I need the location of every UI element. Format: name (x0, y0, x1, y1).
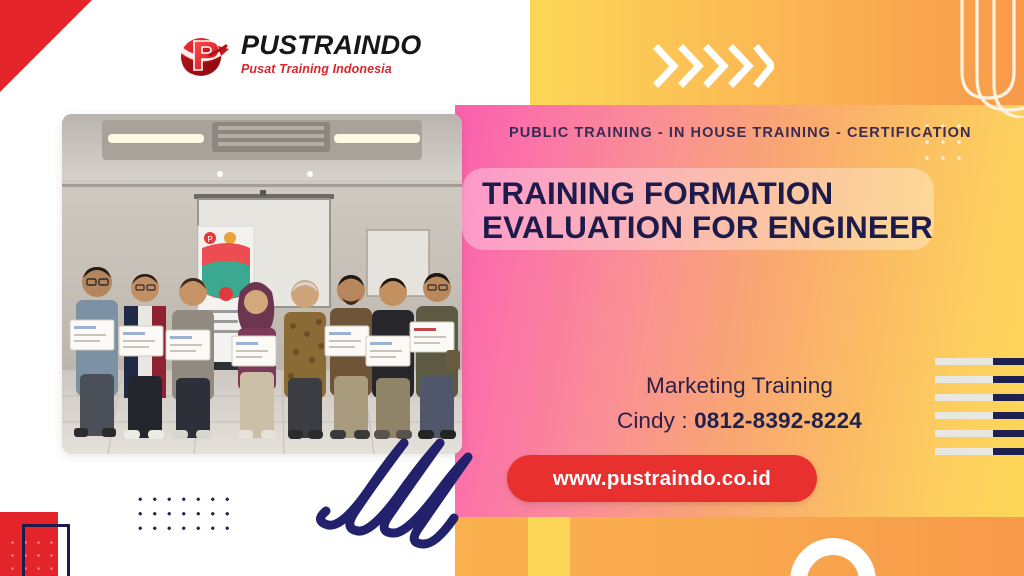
contact-role: Marketing Training (455, 373, 1024, 399)
title-line-1: TRAINING FORMATION (482, 176, 932, 210)
svg-text:P: P (207, 235, 212, 244)
contact-person-label: Cindy : (617, 408, 688, 433)
contact-phone: 0812-8392-8224 (694, 408, 862, 433)
brand-tagline: Pusat Training Indonesia (241, 63, 422, 76)
brand-logo: PUSTRAINDO Pusat Training Indonesia (174, 28, 422, 80)
rounded-arc-lines-icon (914, 0, 1024, 123)
eyebrow-text: PUBLIC TRAINING - IN HOUSE TRAINING - CE… (509, 125, 972, 141)
square-outline-icon (22, 524, 70, 576)
chevron-right-icon-group (652, 41, 774, 96)
website-cta-button[interactable]: www.pustraindo.co.id (507, 455, 817, 502)
zigzag-scribble-icon (300, 415, 510, 560)
contact-person: Cindy : 0812-8392-8224 (455, 408, 1024, 434)
promotional-banner: P (0, 0, 1024, 576)
brand-logo-text: PUSTRAINDO Pusat Training Indonesia (241, 32, 422, 76)
page-title: TRAINING FORMATION EVALUATION FOR ENGINE… (482, 176, 932, 245)
website-cta-label: www.pustraindo.co.id (553, 467, 771, 491)
yellow-accent-tab (528, 517, 570, 576)
contact-block: Marketing Training Cindy : 0812-8392-822… (455, 373, 1024, 434)
bar-stack-row (935, 358, 1024, 365)
corner-triangle-icon (0, 0, 92, 92)
brand-name: PUSTRAINDO (241, 32, 422, 59)
pustraindo-globe-arrow-logo-icon (174, 28, 232, 80)
training-group-photo: P (62, 114, 462, 454)
title-line-2: EVALUATION FOR ENGINEER (482, 210, 932, 244)
dot-grid-icon (133, 492, 237, 532)
bar-stack-row (935, 448, 1024, 455)
